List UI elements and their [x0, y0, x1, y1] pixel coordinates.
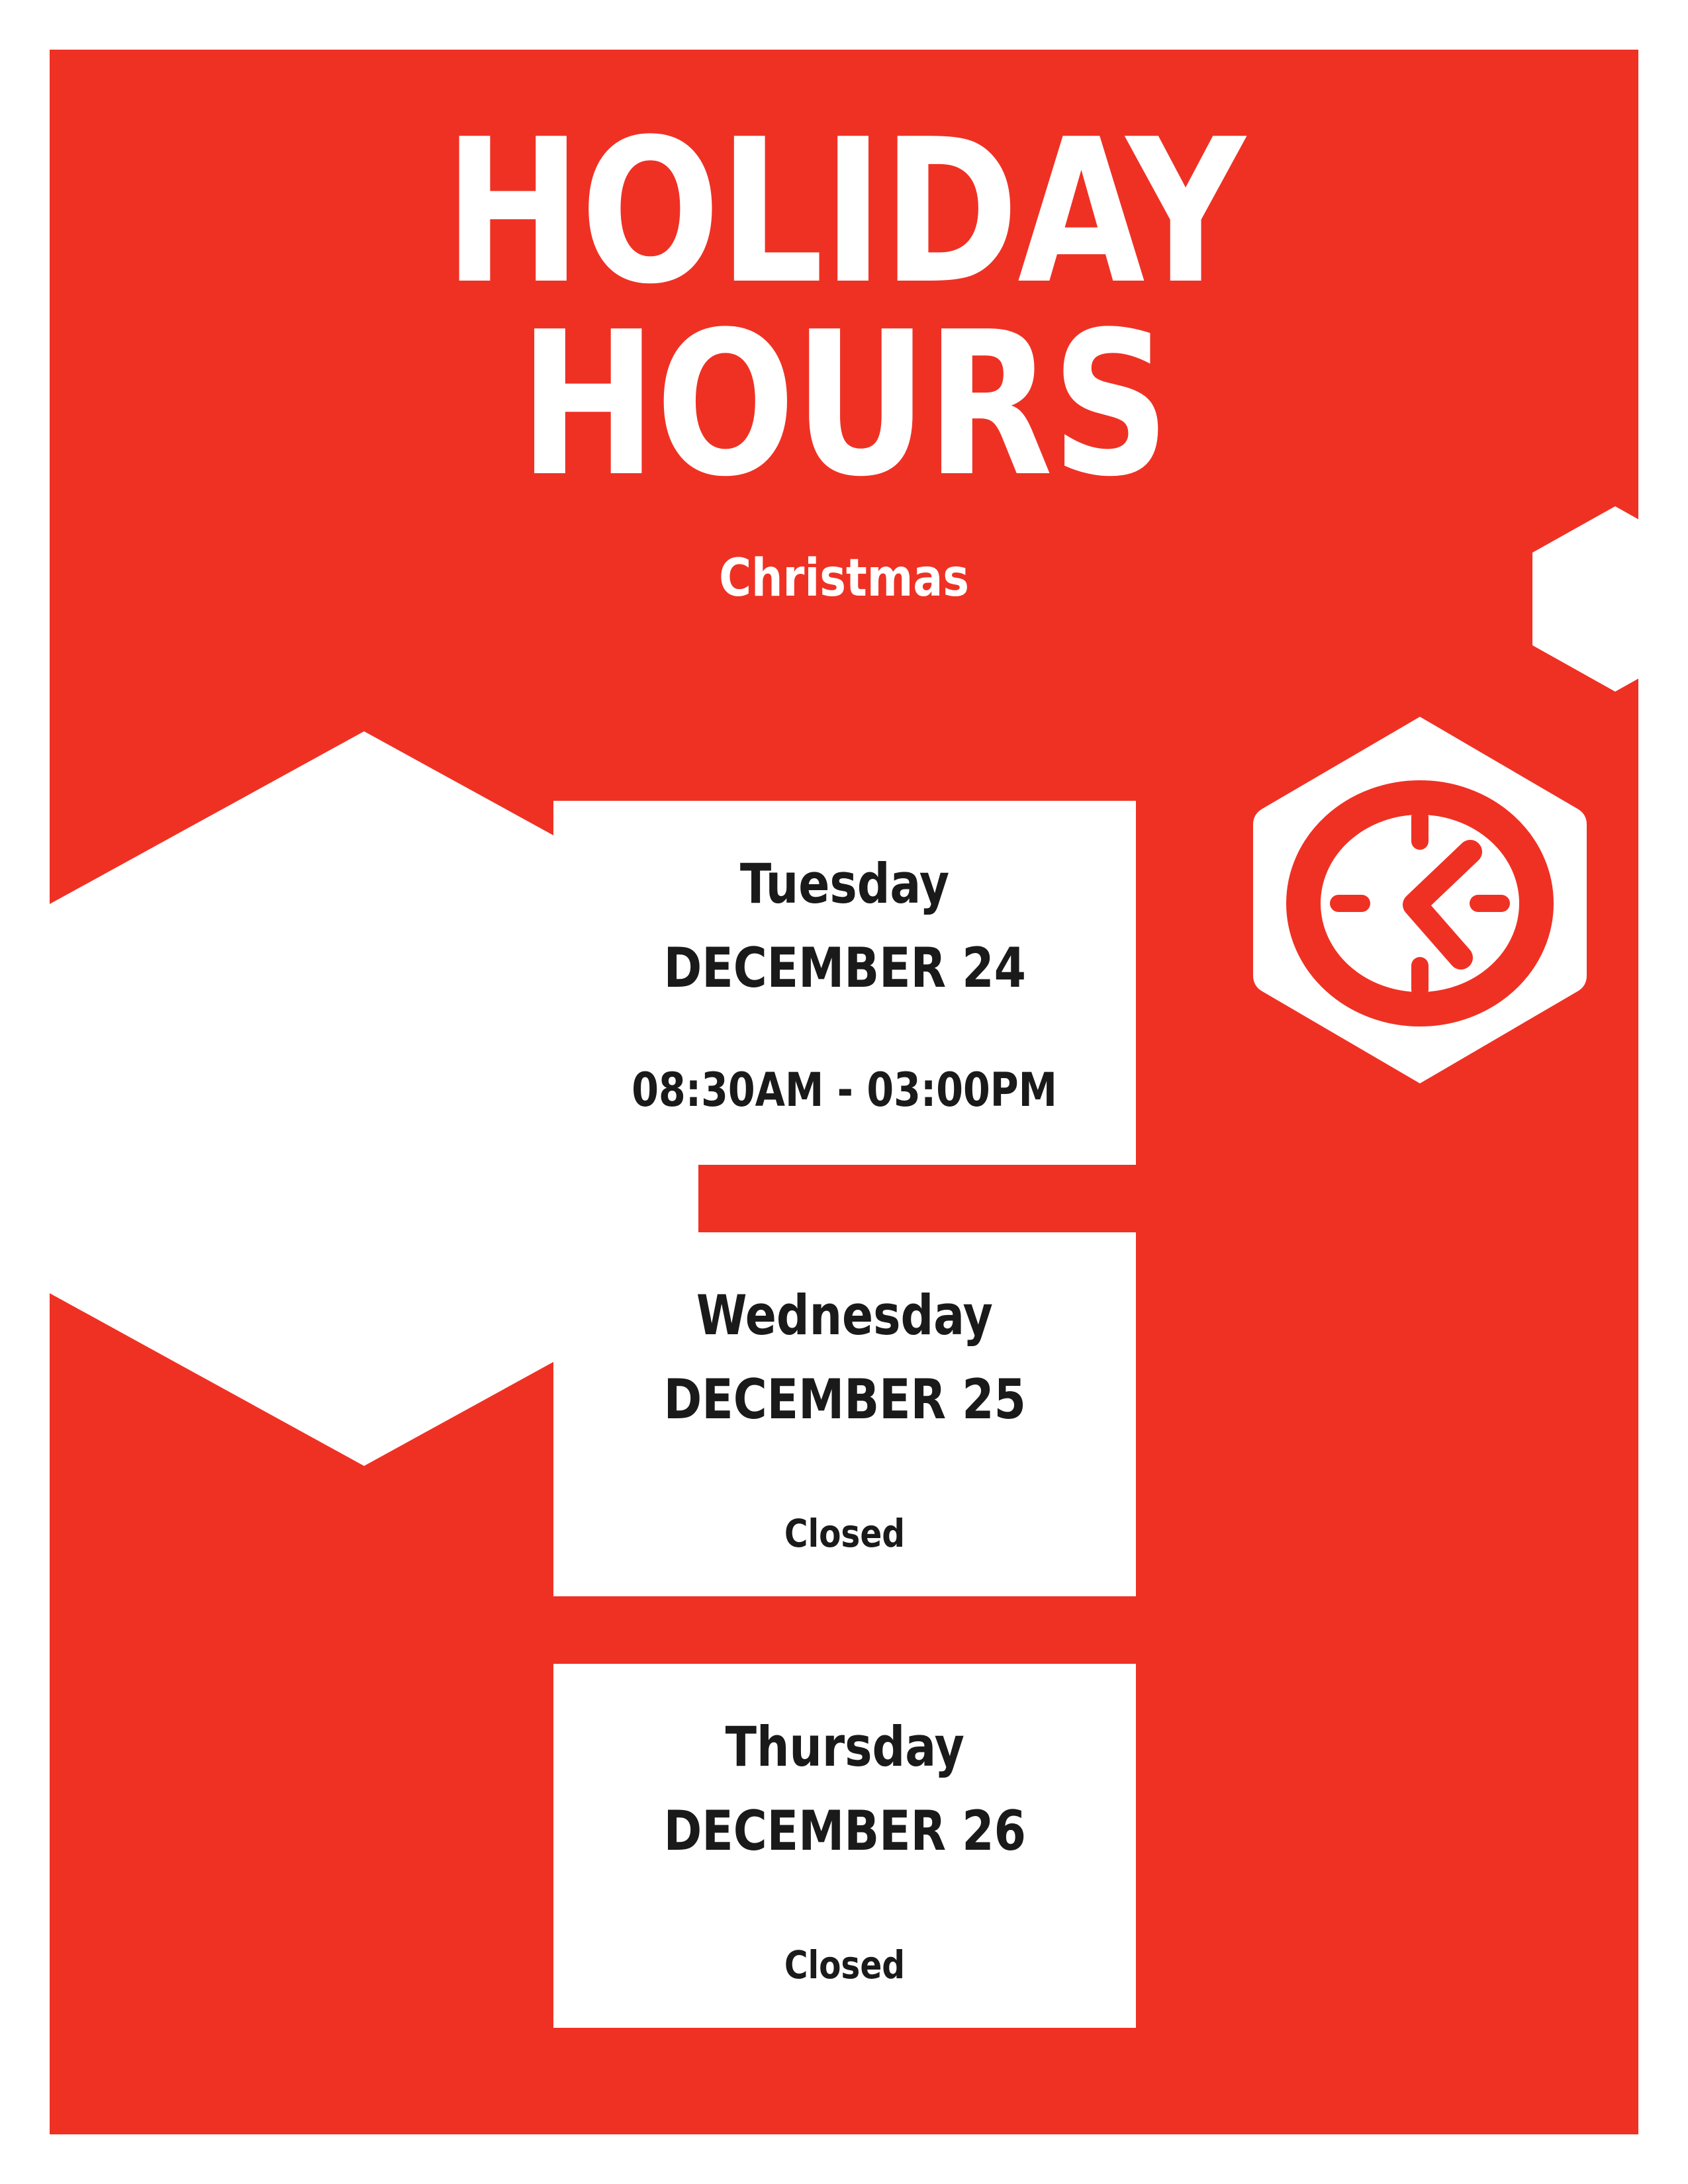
schedule-date: DECEMBER 24 [663, 940, 1025, 995]
schedule-date: DECEMBER 25 [663, 1372, 1025, 1427]
poster-header: HOLIDAY HOURS Christmas [50, 116, 1638, 608]
page-title-line-2: HOURS [113, 308, 1575, 501]
poster-red-panel: HOLIDAY HOURS Christmas Tuesday DECEMBER… [50, 50, 1638, 2134]
schedule-hours: Closed [784, 1514, 905, 1553]
schedule-day-name: Wednesday [696, 1288, 993, 1343]
schedule-day-name: Tuesday [740, 856, 949, 911]
schedule-card: Wednesday DECEMBER 25 Closed [553, 1232, 1136, 1596]
schedule-hours: Closed [784, 1946, 905, 1984]
schedule-card: Thursday DECEMBER 26 Closed [553, 1664, 1136, 2028]
clock-badge [1248, 711, 1592, 1089]
schedule-date: DECEMBER 26 [663, 1803, 1025, 1858]
clock-icon [1248, 711, 1592, 1089]
page-subtitle: Christmas [89, 549, 1599, 608]
schedule-list: Tuesday DECEMBER 24 08:30AM - 03:00PM We… [553, 801, 1136, 2028]
page-title-line-1: HOLIDAY [113, 116, 1575, 308]
schedule-card: Tuesday DECEMBER 24 08:30AM - 03:00PM [553, 801, 1136, 1165]
schedule-hours: 08:30AM - 03:00PM [632, 1067, 1058, 1113]
holiday-hours-poster: HOLIDAY HOURS Christmas Tuesday DECEMBER… [0, 0, 1688, 2184]
schedule-day-name: Thursday [725, 1719, 964, 1774]
